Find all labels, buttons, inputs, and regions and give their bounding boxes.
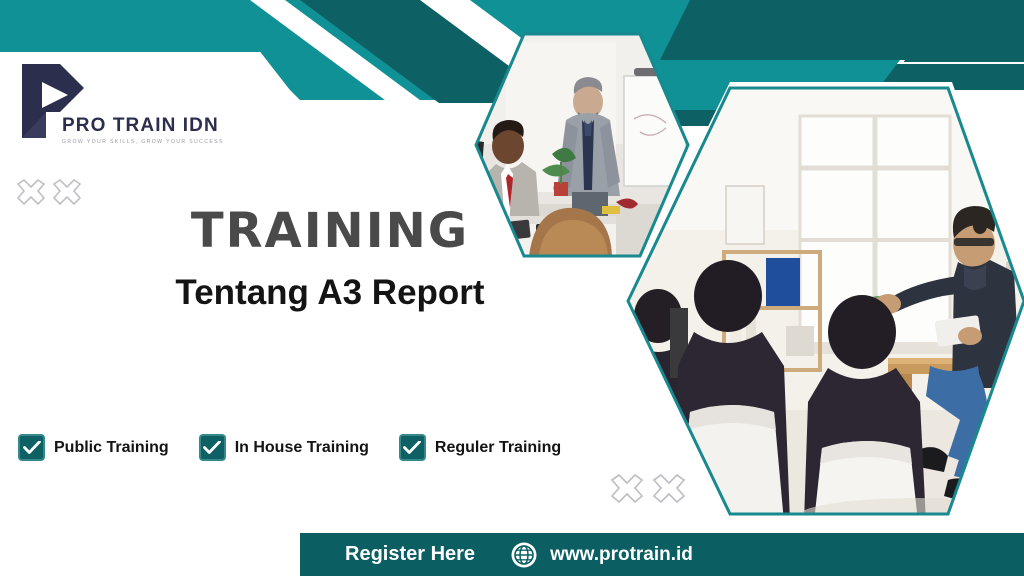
- page-subtitle: Tentang A3 Report: [0, 274, 660, 313]
- website-url[interactable]: www.protrain.id: [550, 544, 693, 566]
- brand-tagline: GROW YOUR SKILLS, GROW YOUR SUCCESS: [62, 139, 237, 145]
- training-type-label: Reguler Training: [435, 439, 561, 457]
- brand-logo: PRO TRAIN IDN GROW YOUR SKILLS, GROW YOU…: [16, 62, 236, 162]
- checkbox-checked-icon[interactable]: [199, 434, 226, 461]
- footer-bar: Register Here www.protrain.id: [300, 533, 1024, 576]
- website-block[interactable]: www.protrain.id: [511, 542, 693, 568]
- globe-icon: [511, 542, 537, 568]
- training-type-label: Public Training: [54, 439, 169, 457]
- training-flyer: PRO TRAIN IDN GROW YOUR SKILLS, GROW YOU…: [0, 0, 1024, 576]
- training-type-in-house[interactable]: In House Training: [199, 434, 369, 461]
- training-session-photo: [618, 80, 1024, 522]
- training-type-reguler[interactable]: Reguler Training: [399, 434, 561, 461]
- training-type-public[interactable]: Public Training: [18, 434, 169, 461]
- brand-name: PRO TRAIN IDN: [62, 116, 237, 135]
- training-type-list: Public Training In House Training Regule…: [18, 434, 561, 461]
- checkbox-checked-icon[interactable]: [399, 434, 426, 461]
- register-here-label[interactable]: Register Here: [345, 543, 475, 566]
- training-type-label: In House Training: [235, 439, 369, 457]
- checkbox-checked-icon[interactable]: [18, 434, 45, 461]
